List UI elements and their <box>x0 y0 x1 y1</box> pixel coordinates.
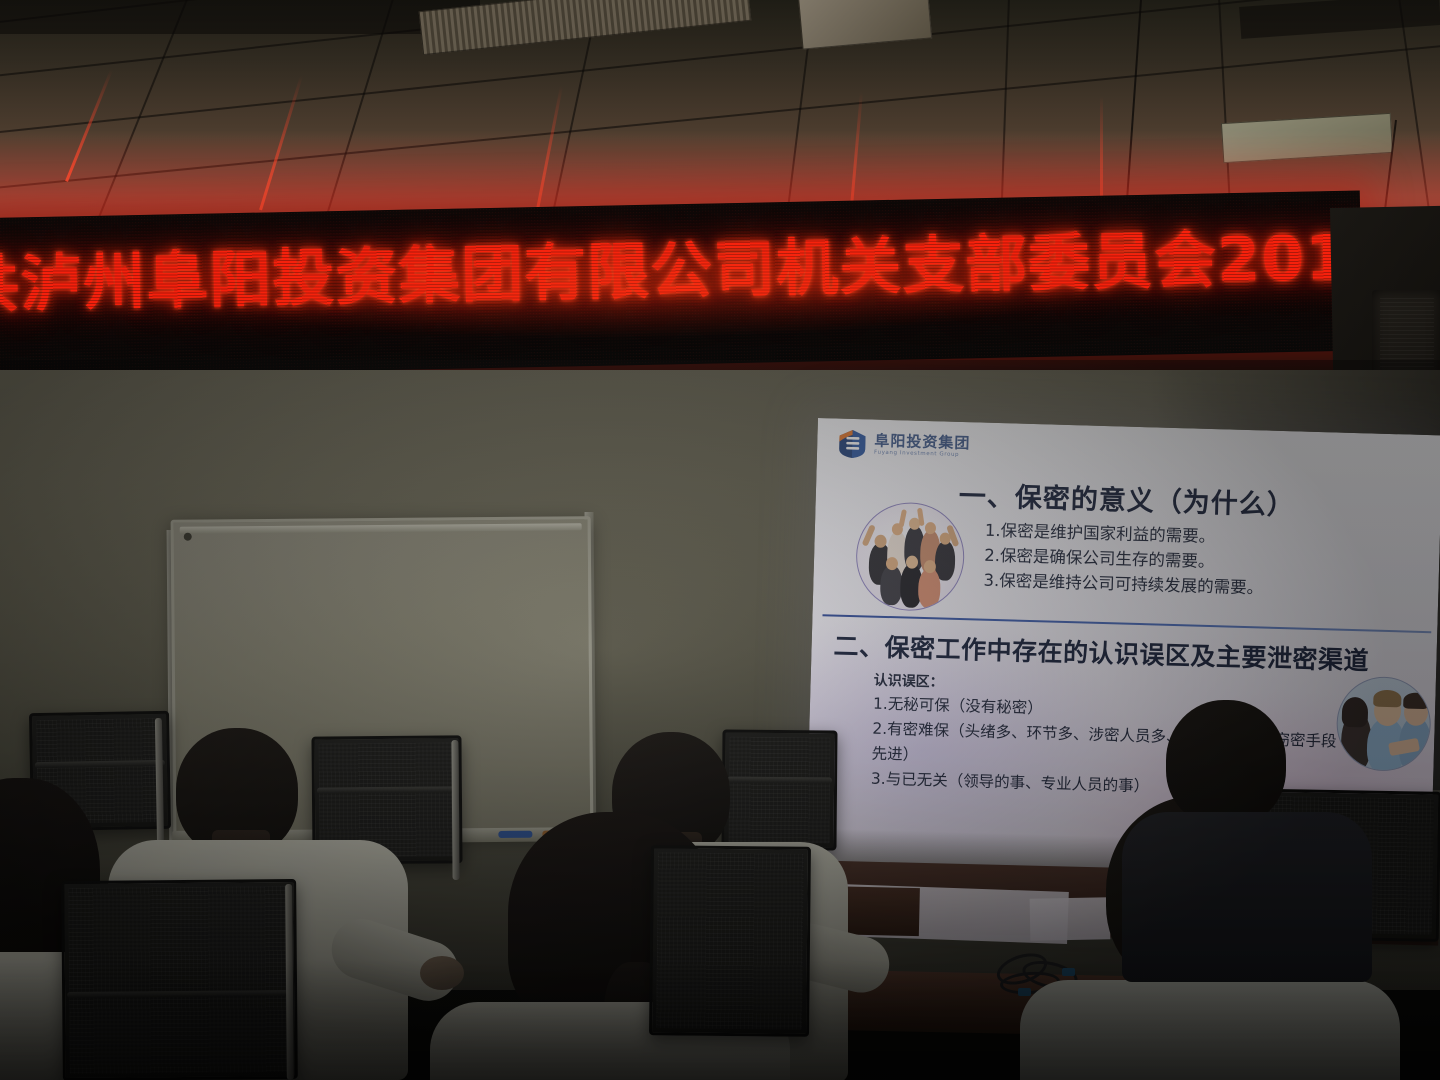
attendee-head <box>1166 700 1286 826</box>
chair-foreground-center <box>649 845 811 1037</box>
chair-foreground-left <box>61 879 298 1080</box>
chair-back-right <box>721 730 837 851</box>
led-scrolling-banner: 共泸州阜阳投资集团有限公司机关支部委员会2019年6月固定党日 <box>0 191 1363 378</box>
whiteboard-knob <box>184 533 192 541</box>
desk-papers-secondary <box>1030 897 1111 940</box>
company-logo: 阜阳投资集团 Fuyang Investment Group <box>837 429 971 463</box>
fuyang-group-logo-icon <box>837 429 868 460</box>
chair-mesh <box>729 737 831 844</box>
business-people-photo <box>1335 676 1432 773</box>
logo-cn-name: 阜阳投资集团 <box>874 433 970 451</box>
attendee-torso <box>1020 980 1400 1080</box>
chair-mesh <box>656 852 804 1030</box>
section-two-subheading: 认识误区： <box>873 670 944 692</box>
chair-mesh <box>68 886 291 1074</box>
attendee-hand <box>420 956 464 990</box>
attendee-torso <box>1122 812 1372 982</box>
chair-lumbar-bar <box>317 786 457 793</box>
chair-lumbar-bar <box>727 777 832 784</box>
logo-en-name: Fuyang Investment Group <box>874 450 970 458</box>
chair-rail <box>451 740 459 880</box>
section-one-heading: 一、保密的意义（为什么） <box>958 474 1295 522</box>
cable-connector <box>1062 968 1075 976</box>
logo-text: 阜阳投资集团 Fuyang Investment Group <box>874 433 971 458</box>
whiteboard-top-rail <box>180 523 582 534</box>
team-photo-figures <box>856 502 965 611</box>
section-one-items: 1.保密是维护国家利益的需要。 2.保密是确保公司生存的需要。 3.保密是维持公… <box>983 518 1265 601</box>
cable-connector <box>1018 988 1031 996</box>
conference-room-photo: 共泸州阜阳投资集团有限公司机关支部委员会2019年6月固定党日 <box>0 0 1440 1080</box>
cheering-team-photo <box>855 501 966 612</box>
blue-marker <box>498 831 532 838</box>
